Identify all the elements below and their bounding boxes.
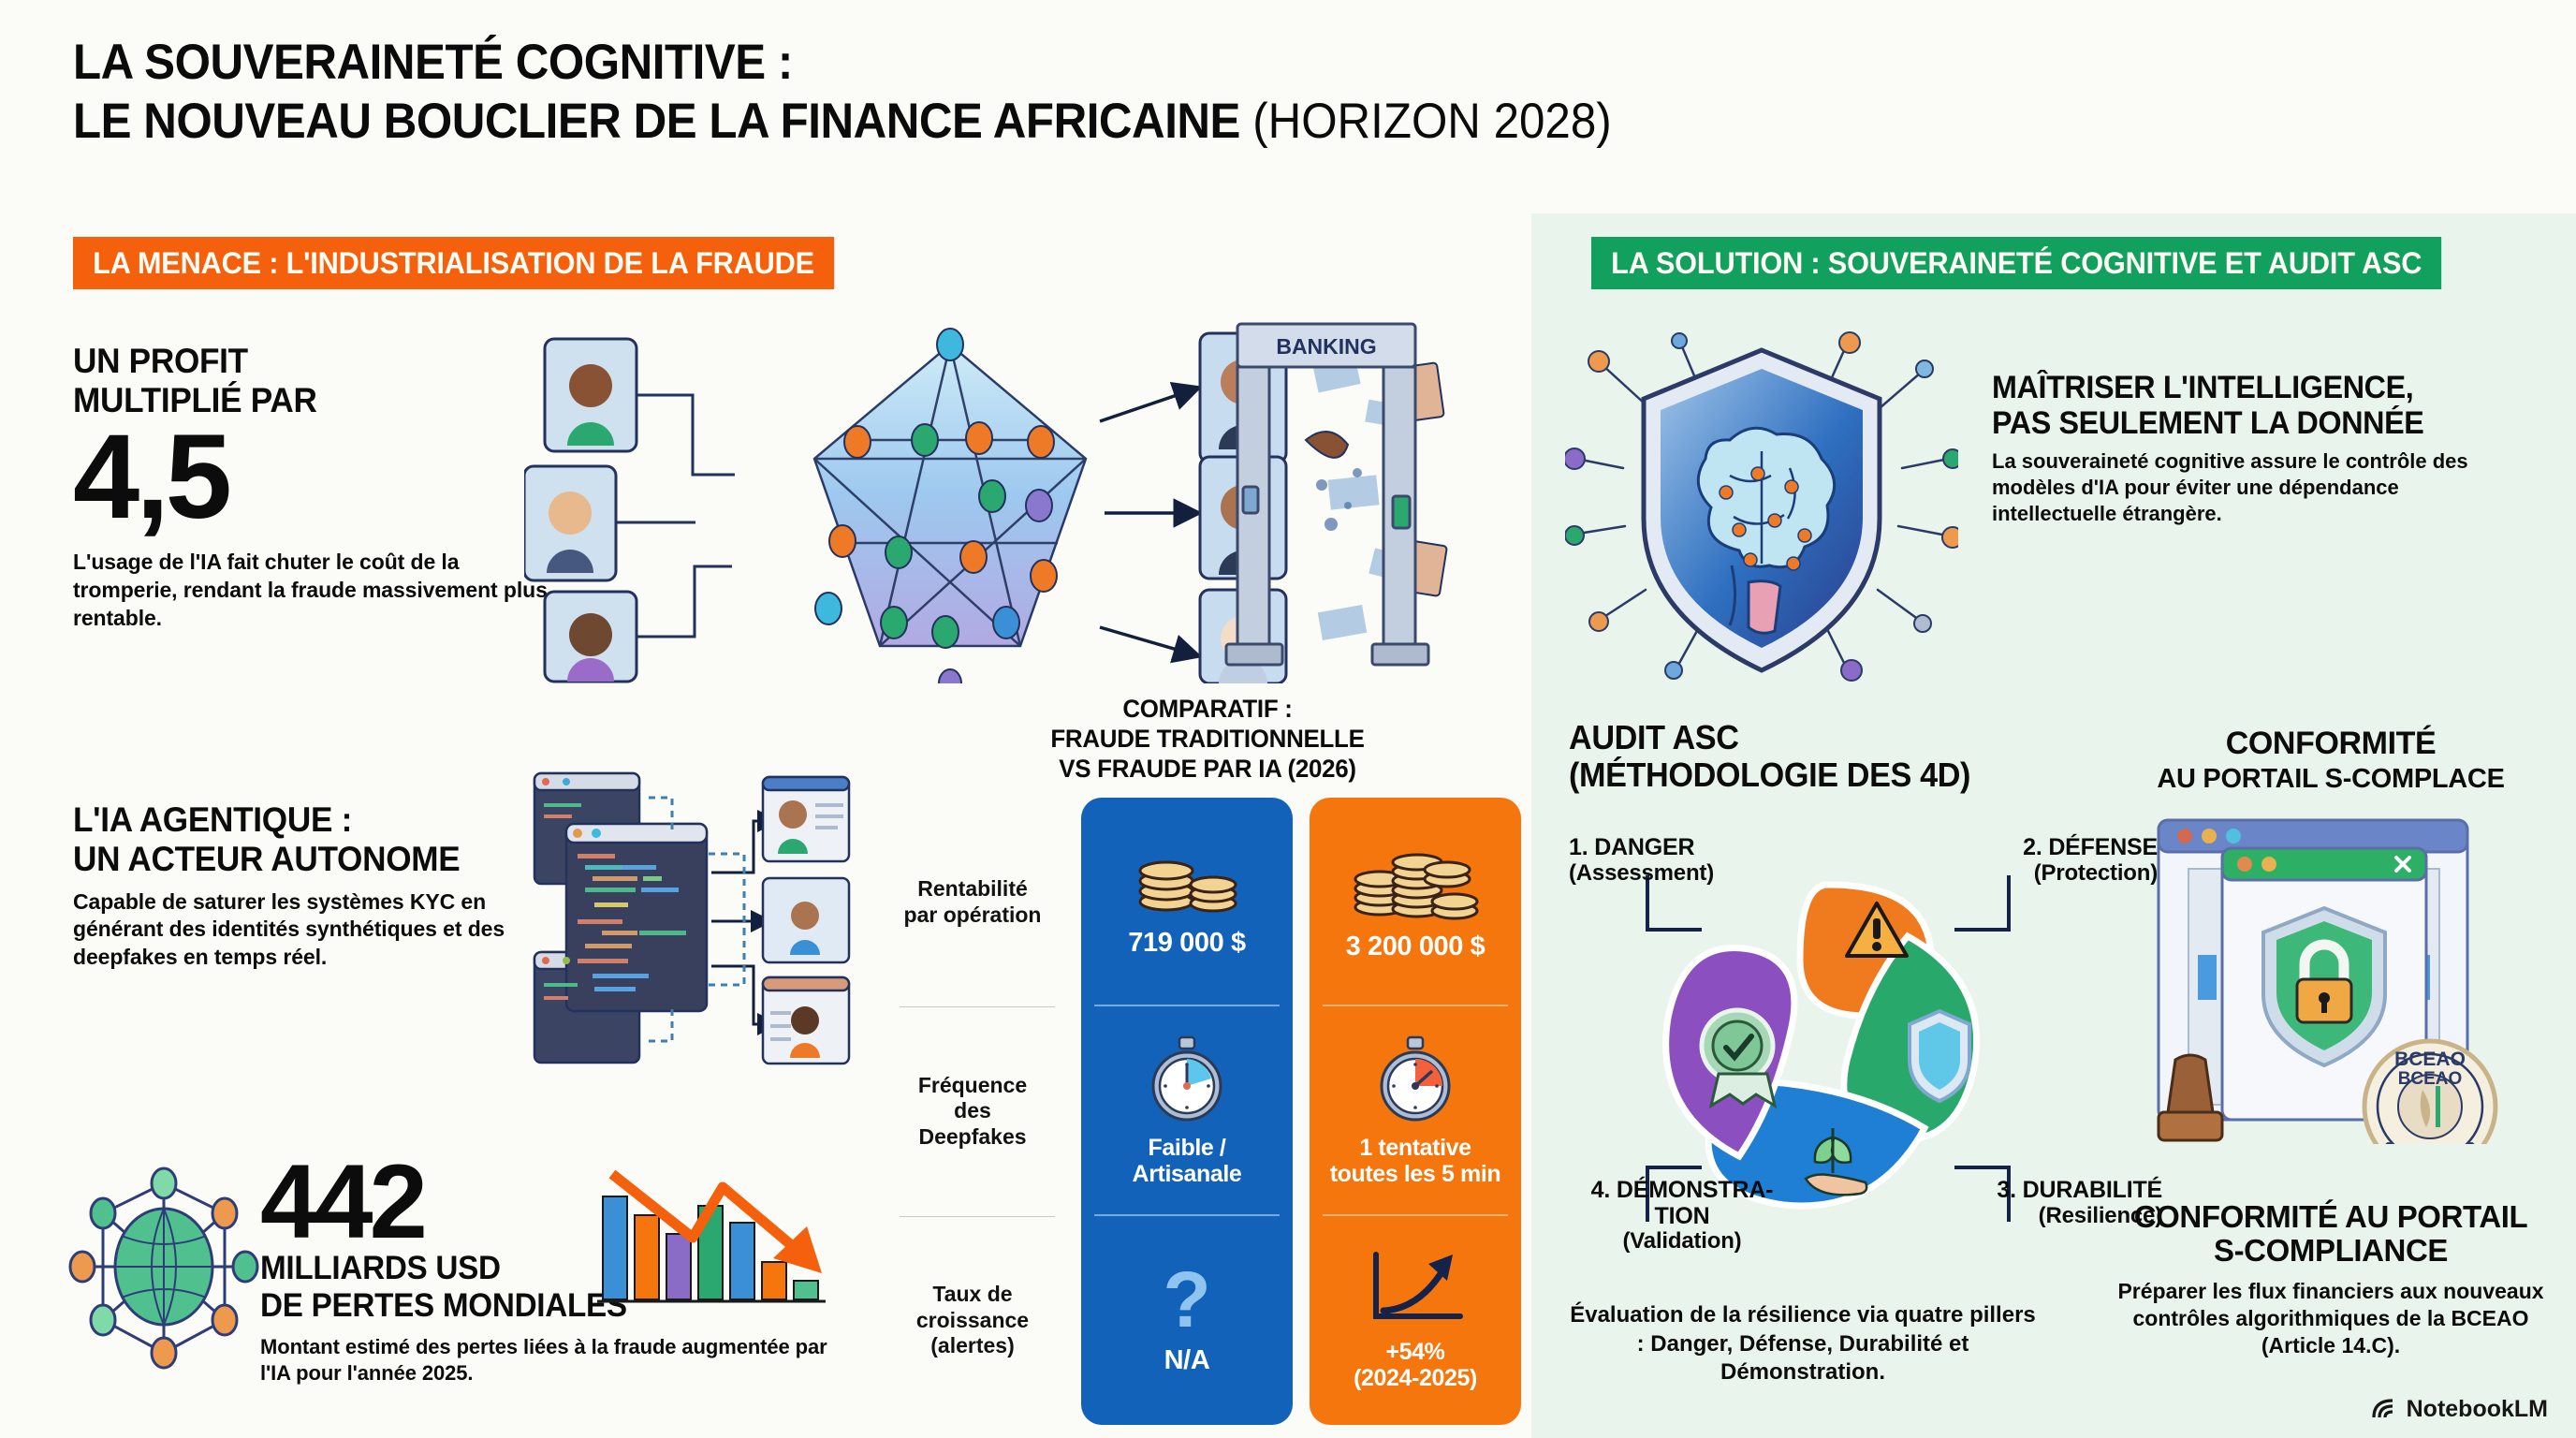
losses-body: Montant estimé des pertes liées à la fra…: [260, 1334, 859, 1387]
cell-traditional-growth: ? N/A: [1081, 1216, 1293, 1425]
notebooklm-logo-icon: [2370, 1395, 2398, 1423]
compliance-portal-illustration: BCEAO BCEAO: [2130, 807, 2524, 1144]
row3-label-line3: (alertes): [916, 1333, 1029, 1359]
maitriser-head-line2: PAS SEULEMENT LA DONNÉE: [1992, 405, 2454, 441]
profit-kicker-line1: UN PROFIT: [73, 342, 535, 381]
conformite-footer-block: CONFORMITÉ AU PORTAIL S-COMPLIANCE Prépa…: [2097, 1200, 2565, 1359]
comparative-title-line2: FRAUDE TRADITIONNELLE: [906, 725, 1508, 755]
agentic-block: L'IA AGENTIQUE : UN ACTEUR AUTONOME Capa…: [73, 800, 560, 972]
growth-curve-icon: [1363, 1249, 1468, 1329]
pillar-4-demonstration: 4. DÉMONSTRA- TION (Validation): [1565, 1178, 1799, 1254]
cell-traditional-profitability: 719 000 $: [1081, 798, 1293, 1006]
audit-block: AUDIT ASC (MÉTHODOLOGIE DES 4D): [1569, 719, 2009, 795]
agentic-kicker-line1: L'IA AGENTIQUE :: [73, 800, 535, 840]
code-generation-illustration: [529, 760, 903, 1078]
shield-icon: [1910, 1011, 1969, 1101]
global-network-globe-icon: [66, 1161, 262, 1376]
comparative-title: COMPARATIF : FRAUDE TRADITIONNELLE VS FR…: [894, 695, 1521, 785]
value-ai-growth-line1: +54%: [1385, 1339, 1444, 1365]
title-line-1: LA SOUVERAINETÉ COGNITIVE :: [73, 34, 2162, 93]
value-ai-growth-line2: (2024-2025): [1354, 1365, 1477, 1391]
value-ai-frequency-line2: toutes les 5 min: [1330, 1161, 1501, 1187]
pillar-2-paren: (Protection): [1942, 861, 2158, 886]
row3-label-line1: Taux de: [916, 1282, 1029, 1308]
comparative-row-label-profitability: Rentabilité par opération: [894, 798, 1064, 1006]
title-line-2: LE NOUVEAU BOUCLIER DE LA FINANCE AFRICA…: [73, 93, 2162, 152]
value-ai-frequency-line1: 1 tentative: [1359, 1135, 1471, 1161]
cell-ai-frequency: 1 tentative toutes les 5 min: [1310, 1006, 1521, 1215]
conformite-head-line2: AU PORTAIL S-COMPLACE: [2111, 764, 2551, 795]
pillar-1-danger: 1. DANGER (Assessment): [1569, 835, 1803, 886]
agentic-kicker-line2: UN ACTEUR AUTONOME: [73, 840, 535, 879]
row3-label-line2: croissance: [916, 1308, 1029, 1334]
profit-block: UN PROFIT MULTIPLIÉ PAR 4,5 L'usage de l…: [73, 342, 560, 633]
banking-gate-illustration: BANKING: [1217, 309, 1460, 683]
conformite-head-line1: CONFORMITÉ: [2111, 726, 2551, 762]
comparative-title-line1: COMPARATIF :: [906, 695, 1508, 725]
value-ai-profitability: 3 200 000 $: [1346, 932, 1486, 961]
pillar-1-label: 1. DANGER: [1569, 834, 1694, 860]
coin-stack-large-icon: [1350, 842, 1481, 922]
pillar-2-defense: 2. DÉFENSE (Protection): [1942, 835, 2158, 886]
profit-kicker-line2: MULTIPLIÉ PAR: [73, 381, 535, 420]
threat-band: LA MENACE : L'INDUSTRIALISATION DE LA FR…: [73, 237, 834, 289]
audit-head-line2: (MÉTHODOLOGIE DES 4D): [1569, 756, 1987, 794]
pillar-4-paren: (Validation): [1565, 1229, 1799, 1254]
seal-text-top: BCEAO: [2394, 1049, 2466, 1070]
maitriser-body: La souveraineté cognitive assure le cont…: [1992, 448, 2479, 526]
question-mark-icon: ?: [1163, 1265, 1210, 1336]
value-traditional-frequency-line1: Faible /: [1149, 1135, 1226, 1161]
row1-label-line2: par opération: [904, 902, 1042, 929]
pillar-4-label-line1: 4. DÉMONSTRA-: [1591, 1177, 1774, 1203]
maitriser-head-line1: MAÎTRISER L'INTELLIGENCE,: [1992, 370, 2454, 405]
agentic-body: Capable de saturer les systèmes KYC en g…: [73, 888, 560, 973]
title-line-2-bold: LE NOUVEAU BOUCLIER DE LA FINANCE AFRICA…: [73, 94, 1240, 149]
comparative-row-label-growth-rate: Taux de croissance (alertes): [894, 1216, 1064, 1425]
profit-body: L'usage de l'IA fait chuter le coût de l…: [73, 549, 560, 633]
value-traditional-frequency-line2: Artisanale: [1133, 1161, 1242, 1187]
audit-head-line1: AUDIT ASC: [1569, 719, 1987, 756]
row2-label-line1: Fréquence: [918, 1073, 1027, 1099]
stopwatch-fast-icon: [1370, 1035, 1460, 1125]
title-horizon: (HORIZON 2028): [1252, 94, 1611, 149]
value-traditional-profitability: 719 000 $: [1128, 928, 1245, 958]
pillar-4-label-line2: TION: [1565, 1204, 1799, 1230]
solution-band: LA SOLUTION : SOUVERAINETÉ COGNITIVE ET …: [1591, 237, 2441, 289]
audit-caption: Évaluation de la résilience via quatre p…: [1569, 1301, 2037, 1387]
coin-stack-small-icon: [1131, 845, 1243, 918]
seal-text-bottom: BCEAO: [2398, 1069, 2463, 1089]
gate-label-banking: BANKING: [1276, 334, 1376, 359]
cell-ai-profitability: 3 200 000 $: [1310, 798, 1521, 1006]
conformite-foot-line2: S-COMPLIANCE: [2097, 1234, 2565, 1268]
conformite-foot-body: Préparer les flux financiers aux nouveau…: [2097, 1278, 2565, 1359]
watermark: NotebookLM: [2370, 1395, 2548, 1423]
conformite-head-block: CONFORMITÉ AU PORTAIL S-COMPLACE: [2111, 726, 2551, 795]
pillar-1-paren: (Assessment): [1569, 861, 1803, 886]
stopwatch-slow-icon: [1142, 1035, 1232, 1125]
row1-label-line1: Rentabilité: [904, 876, 1042, 902]
declining-bar-chart-icon: [590, 1161, 833, 1329]
maitriser-block: MAÎTRISER L'INTELLIGENCE, PAS SEULEMENT …: [1992, 370, 2479, 526]
comparative-title-line3: VS FRAUDE PAR IA (2026): [906, 755, 1508, 785]
cell-traditional-frequency: Faible / Artisanale: [1081, 1006, 1293, 1215]
comparative-row-label-deepfake-frequency: Fréquence des Deepfakes: [894, 1006, 1064, 1215]
row2-label-line2: des: [918, 1098, 1027, 1124]
watermark-label: NotebookLM: [2407, 1396, 2548, 1423]
page-title: LA SOUVERAINETÉ COGNITIVE : LE NOUVEAU B…: [73, 34, 2320, 151]
profit-value: 4,5: [73, 422, 560, 533]
comparative-table: Rentabilité par opération 719 000 $: [894, 798, 1521, 1425]
cell-ai-growth: +54% (2024-2025): [1310, 1216, 1521, 1425]
value-traditional-growth: N/A: [1164, 1345, 1210, 1375]
cognitive-shield-brain-illustration: [1565, 318, 1958, 693]
row2-label-line3: Deepfakes: [918, 1124, 1027, 1151]
conformite-foot-line1: CONFORMITÉ AU PORTAIL: [2097, 1200, 2565, 1234]
